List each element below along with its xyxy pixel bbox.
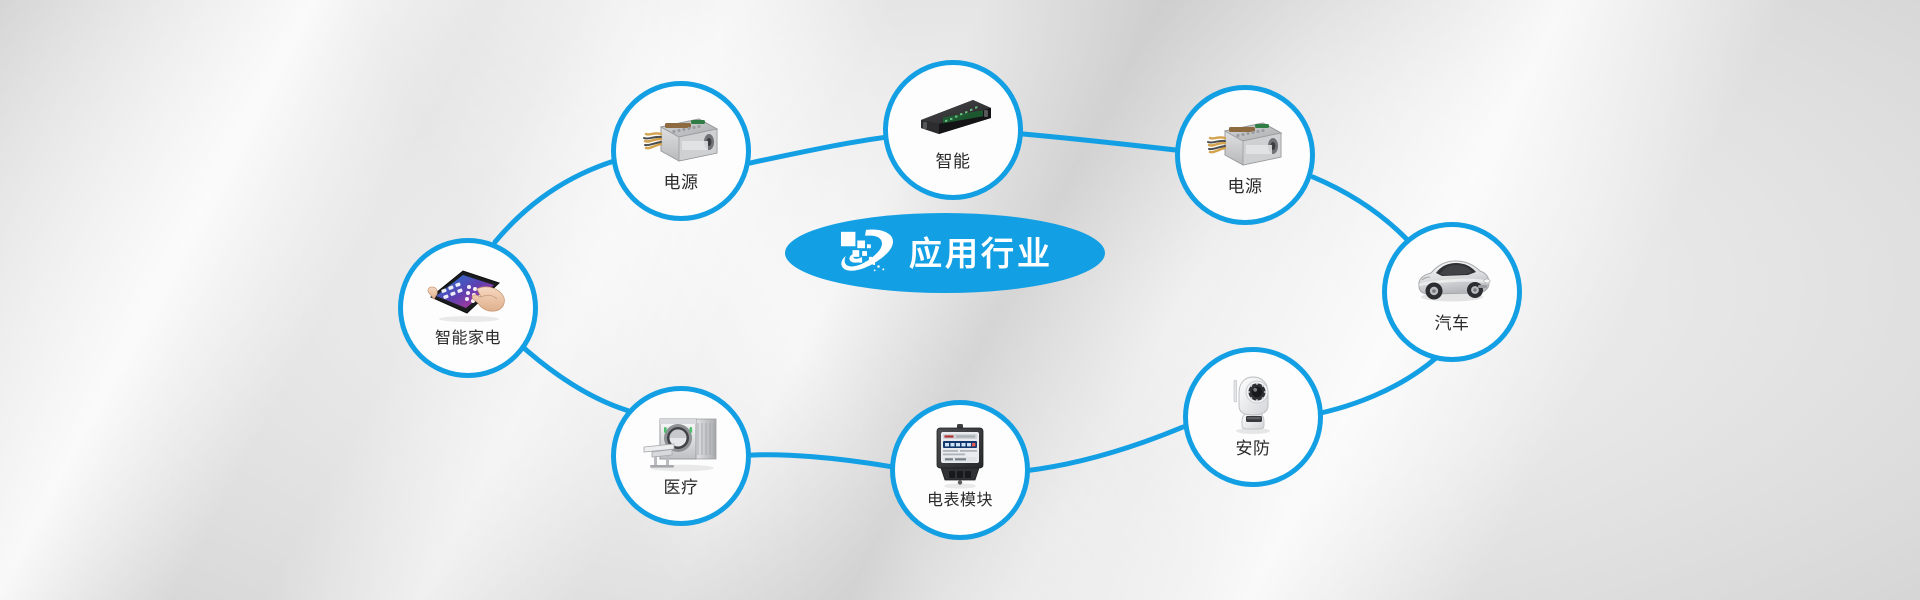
ip-camera-icon bbox=[1210, 368, 1296, 438]
application-industries-diagram: 电源 bbox=[0, 0, 1920, 600]
node-label: 电源 bbox=[664, 174, 699, 191]
badge-title: 应用行业 bbox=[909, 237, 1053, 270]
node-label: 安防 bbox=[1236, 440, 1271, 457]
node-smart-appliance[interactable]: 智能家电 bbox=[398, 238, 538, 378]
orbit-pixel-swoosh-icon bbox=[837, 227, 895, 279]
node-medical[interactable]: 医疗 bbox=[611, 386, 751, 526]
electric-meter-icon bbox=[917, 421, 1003, 491]
node-label: 汽车 bbox=[1435, 315, 1470, 332]
connector-security-to-meter bbox=[1024, 427, 1183, 471]
node-label: 电表模块 bbox=[927, 493, 993, 509]
touch-tablet-icon bbox=[425, 259, 511, 329]
node-power-top-right[interactable]: 电源 bbox=[1175, 85, 1315, 225]
connector-meter-to-medical bbox=[740, 455, 893, 467]
node-label: 智能 bbox=[936, 153, 971, 170]
node-label: 医疗 bbox=[664, 479, 699, 496]
node-meter-module[interactable]: 电表模块 bbox=[890, 400, 1030, 540]
mri-scanner-icon bbox=[638, 407, 724, 477]
sports-car-icon bbox=[1409, 243, 1495, 313]
rack-server-icon bbox=[910, 81, 996, 151]
node-smart[interactable]: 智能 bbox=[883, 60, 1023, 200]
node-automotive[interactable]: 汽车 bbox=[1382, 222, 1522, 362]
pc-power-supply-icon bbox=[1202, 106, 1288, 176]
node-label: 智能家电 bbox=[435, 331, 501, 347]
center-badge[interactable]: 应用行业 bbox=[785, 213, 1105, 293]
node-security[interactable]: 安防 bbox=[1183, 347, 1323, 487]
node-label: 电源 bbox=[1228, 178, 1263, 195]
pc-power-supply-icon bbox=[638, 102, 724, 172]
node-power-top-left[interactable]: 电源 bbox=[611, 81, 751, 221]
